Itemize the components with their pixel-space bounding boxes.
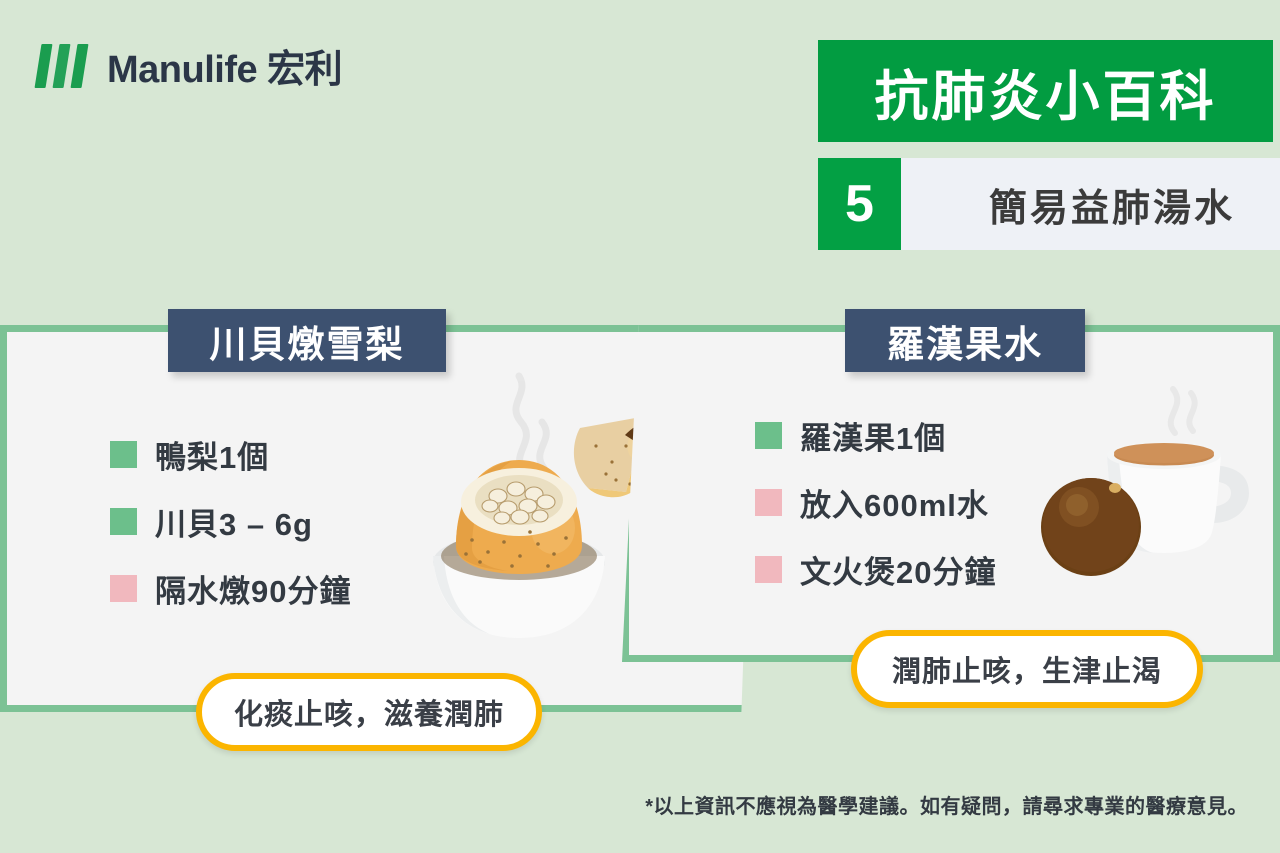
list-item: 羅漢果1個 [755,413,996,458]
header-title-text: 抗肺炎小百科 [875,52,1217,131]
benefit-pill-right-text: 潤肺止咳，生津止渴 [892,648,1162,690]
ingredient-text: 鴨梨1個 [155,432,269,477]
ingredient-text: 隔水燉90分鐘 [155,566,351,611]
infographic-canvas: Manulife 宏利 抗肺炎小百科 5 簡易益肺湯水 [0,0,1280,853]
header-subtitle-wrap: 簡易益肺湯水 [901,158,1280,250]
list-item: 鴨梨1個 [110,432,351,477]
card-title-left: 川貝燉雪梨 [168,309,446,372]
list-item: 文火煲20分鐘 [755,547,996,592]
brand-name: Manulife 宏利 [107,38,342,93]
header-subtitle-text: 簡易益肺湯水 [989,177,1235,232]
header-subtitle-bar: 5 簡易益肺湯水 [818,158,1280,250]
ingredient-list-right: 羅漢果1個 放入600ml水 文火煲20分鐘 [755,413,996,614]
card-title-right-text: 羅漢果水 [887,314,1043,368]
card-title-left-text: 川貝燉雪梨 [210,314,405,368]
bullet-swatch-icon [110,441,137,468]
manulife-bars-icon [38,42,85,90]
benefit-pill-right: 潤肺止咳，生津止渴 [851,630,1203,708]
bullet-swatch-icon [110,508,137,535]
benefit-pill-left: 化痰止咳，滋養潤肺 [196,673,542,751]
bullet-swatch-icon [755,489,782,516]
disclaimer-footnote: *以上資訊不應視為醫學建議。如有疑問，請尋求專業的醫療意見。 [0,790,1248,819]
benefit-pill-left-text: 化痰止咳，滋養潤肺 [234,691,504,733]
list-item: 放入600ml水 [755,480,996,525]
card-title-right: 羅漢果水 [845,309,1085,372]
list-item: 川貝3 – 6g [110,499,351,544]
bullet-swatch-icon [755,556,782,583]
ingredient-list-left: 鴨梨1個 川貝3 – 6g 隔水燉90分鐘 [110,432,351,633]
ingredient-text: 川貝3 – 6g [155,499,313,544]
list-item: 隔水燉90分鐘 [110,566,351,611]
ingredient-text: 放入600ml水 [800,480,989,525]
ingredient-text: 羅漢果1個 [800,413,946,458]
brand-lockup: Manulife 宏利 [38,38,342,93]
header-step-number: 5 [818,158,901,250]
header-title-banner: 抗肺炎小百科 [818,40,1273,142]
ingredient-text: 文火煲20分鐘 [800,547,996,592]
bullet-swatch-icon [755,422,782,449]
bullet-swatch-icon [110,575,137,602]
